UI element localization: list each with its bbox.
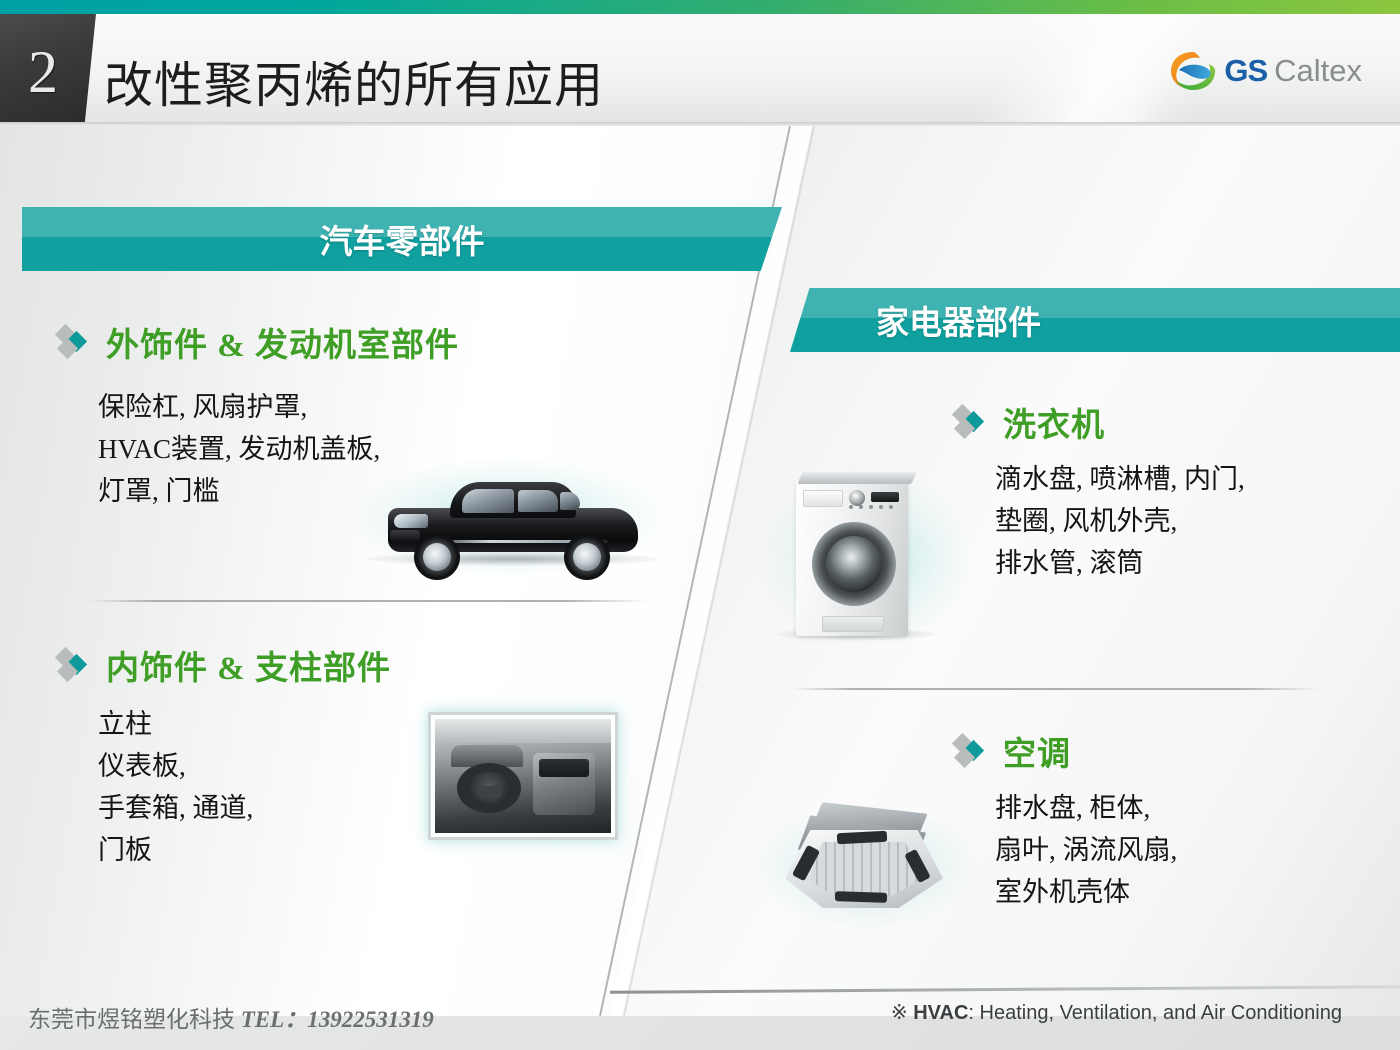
logo-caltex-text: Caltex <box>1274 53 1362 89</box>
list-item: 灯罩, 门槛 <box>98 470 380 512</box>
footer-company-name: 东莞市煜铭塑化科技 <box>28 1007 235 1032</box>
slide-number-box: 2 <box>0 14 96 126</box>
list-item: 仪表板, <box>98 745 253 787</box>
car-dashboard-photo <box>428 712 618 840</box>
list-item: HVAC装置, 发动机盖板, <box>98 428 380 470</box>
bullet-interior-parts: 内饰件 & 支柱部件 <box>58 641 391 689</box>
gs-caltex-logo: GS Caltex <box>1166 48 1362 94</box>
automotive-band-label: 汽车零部件 <box>22 207 806 271</box>
bullet-washing-machine: 洗衣机 <box>955 398 1105 446</box>
exterior-parts-list: 保险杠, 风扇护罩, HVAC装置, 发动机盖板, 灯罩, 门槛 <box>98 386 380 512</box>
interior-parts-list: 立柱 仪表板, 手套箱, 通道, 门板 <box>98 703 253 871</box>
air-conditioner-parts-list: 排水盘, 柜体, 扇叶, 涡流风扇, 室外机壳体 <box>995 787 1177 913</box>
logo-gs-text: GS <box>1224 53 1267 89</box>
slide-header: 2 改性聚丙烯的所有应用 <box>0 14 1400 126</box>
footnote-text: : Heating, Ventilation, and Air Conditio… <box>968 1002 1342 1024</box>
air-conditioner-illustration <box>785 802 949 918</box>
page-title: 改性聚丙烯的所有应用 <box>104 46 604 117</box>
slide-number: 2 <box>28 38 58 107</box>
list-item: 保险杠, 风扇护罩, <box>98 386 380 428</box>
hvac-footnote: ※ HVAC: Heating, Ventilation, and Air Co… <box>891 1000 1342 1025</box>
home-appliance-band-label: 家电器部件 <box>790 288 1400 352</box>
right-section-divider <box>790 688 1320 690</box>
list-item: 扇叶, 涡流风扇, <box>995 829 1177 871</box>
footer-company-contact: 东莞市煜铭塑化科技 TEL：13922531319 <box>28 1000 434 1034</box>
automotive-section-band: 汽车零部件 <box>22 207 782 271</box>
bullet-label: 洗衣机 <box>1003 398 1105 446</box>
diamond-bullet-icon <box>58 650 92 680</box>
gs-caltex-swirl-icon <box>1166 48 1220 94</box>
home-appliance-section-band: 家电器部件 <box>790 288 1400 352</box>
list-item: 门板 <box>98 829 253 871</box>
diamond-bullet-icon <box>955 736 989 766</box>
washing-machine-illustration <box>796 470 914 638</box>
slide: 2 改性聚丙烯的所有应用 <box>0 0 1400 1050</box>
bullet-label: 外饰件 & 发动机室部件 <box>106 318 459 366</box>
bullet-air-conditioner: 空调 <box>955 727 1071 775</box>
diamond-bullet-icon <box>58 327 92 357</box>
top-accent-strip <box>0 0 1400 14</box>
black-sedan-photo <box>352 452 662 592</box>
left-section-divider <box>88 600 648 602</box>
bullet-label: 空调 <box>1003 727 1071 775</box>
list-item: 排水管, 滚筒 <box>995 542 1245 584</box>
ceiling-cassette-ac-photo <box>755 788 975 938</box>
list-item: 排水盘, 柜体, <box>995 787 1177 829</box>
dashboard-illustration <box>435 719 611 833</box>
washing-machine-photo <box>762 458 972 656</box>
footer-telephone: TEL：13922531319 <box>241 1007 434 1032</box>
list-item: 室外机壳体 <box>995 871 1177 913</box>
bullet-label: 内饰件 & 支柱部件 <box>106 641 391 689</box>
list-item: 手套箱, 通道, <box>98 787 253 829</box>
list-item: 滴水盘, 喷淋槽, 内门, <box>995 458 1245 500</box>
list-item: 立柱 <box>98 703 253 745</box>
bullet-exterior-parts: 外饰件 & 发动机室部件 <box>58 318 459 366</box>
washing-machine-parts-list: 滴水盘, 喷淋槽, 内门, 垫圈, 风机外壳, 排水管, 滚筒 <box>995 458 1245 584</box>
footnote-mark-icon: ※ <box>891 1002 908 1024</box>
diamond-bullet-icon <box>955 407 989 437</box>
car-illustration <box>388 478 638 566</box>
footnote-term: HVAC <box>913 1002 968 1024</box>
list-item: 垫圈, 风机外壳, <box>995 500 1245 542</box>
